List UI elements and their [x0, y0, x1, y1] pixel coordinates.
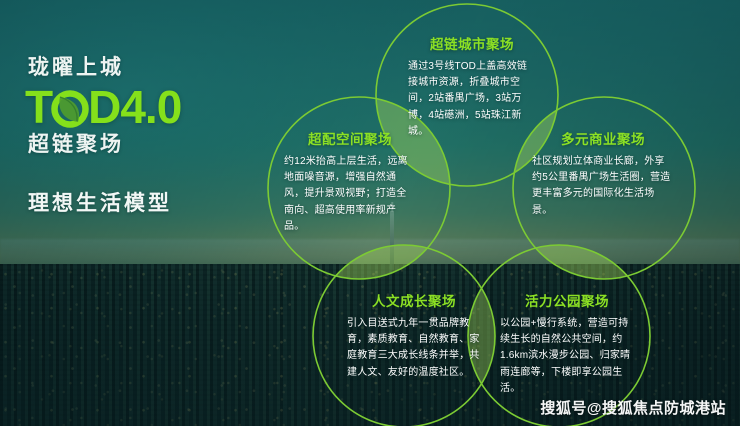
bubble-title: 活力公园聚场 — [500, 290, 634, 310]
logo-text-d40: D4.0 — [88, 84, 181, 130]
venn-bubble-left[interactable]: 超配空间聚场 约12米抬高上层生活，远离地面噪音源，增强自然通风，提升景观视野；… — [284, 128, 416, 235]
headline-tagline: 超链聚场 — [28, 133, 278, 156]
venn-bubble-bottom-left[interactable]: 人文成长聚场 引入目送式九年一贯品牌教育，素质教育、自然教育、家庭教育三大成长线… — [347, 290, 481, 381]
bubble-title: 超链城市聚场 — [408, 33, 536, 53]
bubble-body: 通过3号线TOD上盖高效链接城市资源，折叠城市空间，2站番禺广场，3站万博，4站… — [408, 59, 536, 140]
bubble-body: 以公园+慢行系统，营造可持续生长的自然公共空间，约1.6km滨水漫步公园、归家晴… — [500, 316, 634, 397]
venn-bubble-top[interactable]: 超链城市聚场 通过3号线TOD上盖高效链接城市资源，折叠城市空间，2站番禺广场，… — [408, 33, 536, 140]
bubble-body: 引入目送式九年一贯品牌教育，素质教育、自然教育、家庭教育三大成长线条并举，共建人… — [347, 316, 481, 381]
brand-name: 珑曜上城 — [28, 56, 278, 79]
bubble-body: 社区规划立体商业长廊，外享约5公里番禺广场生活圈，营造更丰富多元的国际化生活场景… — [532, 154, 674, 219]
bubble-body: 约12米抬高上层生活，远离地面噪音源，增强自然通风，提升景观视野；打造全南向、超… — [284, 154, 416, 235]
bubble-title: 多元商业聚场 — [532, 128, 674, 148]
headline-block: 珑曜上城 T D4.0 超链聚场 理想生活模型 — [28, 56, 278, 215]
venn-bubble-right[interactable]: 多元商业聚场 社区规划立体商业长廊，外享约5公里番禺广场生活圈，营造更丰富多元的… — [532, 128, 674, 219]
headline-subtitle: 理想生活模型 — [28, 192, 278, 215]
tod-logo: T D4.0 — [25, 83, 278, 131]
leaf-swirl-o-icon — [51, 85, 89, 129]
bubble-title: 超配空间聚场 — [284, 128, 416, 148]
venn-bubble-bottom-right[interactable]: 活力公园聚场 以公园+慢行系统，营造可持续生长的自然公共空间，约1.6km滨水漫… — [500, 290, 634, 397]
bubble-title: 人文成长聚场 — [347, 290, 481, 310]
poster-canvas: 珑曜上城 T D4.0 超链聚场 理想生活模型 超链城市聚场 通过3号线TOD上… — [0, 0, 740, 426]
logo-letter-t: T — [25, 84, 52, 130]
watermark: 搜狐号@搜狐焦点防城港站 — [540, 397, 726, 418]
